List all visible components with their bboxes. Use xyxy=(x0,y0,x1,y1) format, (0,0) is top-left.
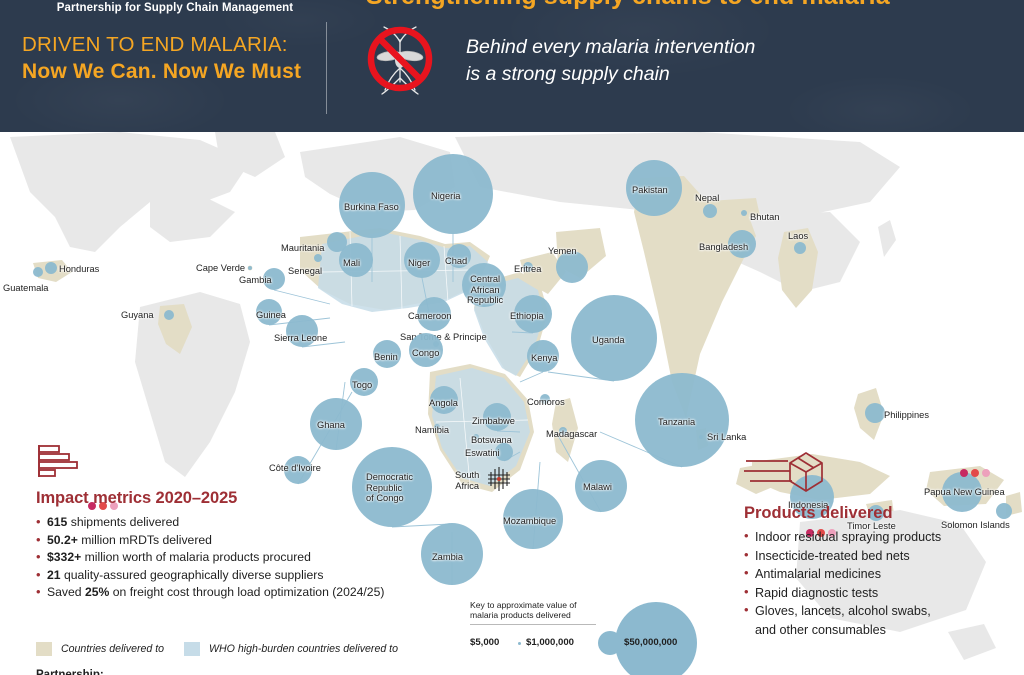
map-legend: Countries delivered toWHO high-burden co… xyxy=(36,642,456,662)
impact-metric-item: Saved 25% on freight cost through load o… xyxy=(36,584,436,602)
map-bubble-senegal[interactable] xyxy=(314,254,322,262)
products-delivered-list: Indoor residual spraying productsInsecti… xyxy=(744,528,1024,640)
map-label-nigeria: Nigeria xyxy=(431,191,460,202)
subhead-line2: is a strong supply chain xyxy=(466,63,670,85)
header-divider xyxy=(326,22,327,114)
map-label-angola: Angola xyxy=(429,398,458,409)
map-bubble-guatemala[interactable] xyxy=(33,267,43,277)
map-label-togo: Togo xyxy=(352,380,372,391)
map-label-congo: Congo xyxy=(412,348,439,359)
subhead-line1: Behind every malaria intervention xyxy=(466,36,755,58)
map-label-mozambique: Mozambique xyxy=(503,516,556,527)
map-label-south-africa: South Africa xyxy=(455,470,479,491)
map-label-nepal: Nepal xyxy=(695,193,719,204)
map-bubble-nepal[interactable] xyxy=(703,204,717,218)
map-bubble-sri-lanka[interactable] xyxy=(699,435,703,439)
size-key-bubble-small xyxy=(518,642,521,645)
partnership-label: Partnership: xyxy=(36,669,104,675)
organization-name: Partnership for Supply Chain Management xyxy=(0,2,350,14)
map-label-laos: Laos xyxy=(788,231,808,242)
impact-metrics-list: 615 shipments delivered50.2+ million mRD… xyxy=(36,514,436,602)
package-icon xyxy=(744,449,824,495)
map-label-central-african-republic: Central African Republic xyxy=(467,274,503,306)
world-bubble-map: GuatemalaHondurasGuyanaCape VerdeMaurita… xyxy=(0,132,1024,675)
tagline-block: DRIVEN TO END MALARIA: Now We Can. Now W… xyxy=(22,32,322,85)
product-item: Insecticide-treated bed nets xyxy=(744,547,1024,566)
legend-swatch xyxy=(184,642,200,656)
map-label-mauritania: Mauritania xyxy=(281,243,324,254)
legend-item: WHO high-burden countries delivered to xyxy=(184,642,398,656)
map-label-benin: Benin xyxy=(374,352,398,363)
map-label-kenya: Kenya xyxy=(531,353,557,364)
map-label-comoros: Comoros xyxy=(527,397,565,408)
map-bubble-laos[interactable] xyxy=(794,242,806,254)
size-key-caption: Key to approximate value of malaria prod… xyxy=(470,600,600,621)
map-label-eritrea: Eritrea xyxy=(514,264,541,275)
legend-label: WHO high-burden countries delivered to xyxy=(209,643,398,655)
map-bubble-bhutan[interactable] xyxy=(741,210,747,216)
product-item: Gloves, lancets, alcohol swabs,and other… xyxy=(744,602,1024,639)
no-mosquito-icon xyxy=(366,20,434,98)
map-label-zimbabwe: Zimbabwe xyxy=(472,416,515,427)
map-label-sri-lanka: Sri Lanka xyxy=(707,432,746,443)
map-label-tanzania: Tanzania xyxy=(658,417,695,428)
map-bubble-guyana[interactable] xyxy=(164,310,174,320)
map-label-guatemala: Guatemala xyxy=(3,283,48,294)
products-delivered-panel: Products delivered Indoor residual spray… xyxy=(744,449,1024,640)
map-label-cape-verde: Cape Verde xyxy=(196,263,245,274)
map-label-niger: Niger xyxy=(408,258,430,269)
size-key-label-5000: $5,000 xyxy=(470,637,499,648)
page-title: Strengthening supply chains to end malar… xyxy=(366,0,1016,11)
legend-label: Countries delivered to xyxy=(61,643,164,655)
size-key-rule xyxy=(470,624,596,625)
map-label-honduras: Honduras xyxy=(59,264,99,275)
impact-metrics-panel: Impact metrics 2020–2025 615 shipments d… xyxy=(36,443,436,602)
product-item: Rapid diagnostic tests xyxy=(744,584,1024,603)
map-label-ethiopia: Ethiopia xyxy=(510,311,544,322)
map-label-chad: Chad xyxy=(445,256,467,267)
map-label-zambia: Zambia xyxy=(432,552,463,563)
size-key-label-1000000: $1,000,000 xyxy=(526,637,574,648)
impact-metric-item: 615 shipments delivered xyxy=(36,514,436,532)
map-label-mali: Mali xyxy=(343,258,360,269)
map-label-bangladesh: Bangladesh xyxy=(699,242,748,253)
legend-swatch xyxy=(36,642,52,656)
map-bubble-honduras[interactable] xyxy=(45,262,57,274)
header-subhead: Behind every malaria intervention is a s… xyxy=(466,34,986,88)
map-label-senegal: Senegal xyxy=(288,266,322,277)
map-label-guinea: Guinea xyxy=(256,310,286,321)
size-key-caption-line1: Key to approximate value of xyxy=(470,600,577,610)
map-label-ghana: Ghana xyxy=(317,420,345,431)
impact-metric-item: 50.2+ million mRDTs delivered xyxy=(36,532,436,550)
impact-metric-item: $332+ million worth of malaria products … xyxy=(36,549,436,567)
product-item: Antimalarial medicines xyxy=(744,565,1024,584)
map-label-malawi: Malawi xyxy=(583,482,612,493)
map-bubble-cape-verde[interactable] xyxy=(248,266,252,270)
impact-metrics-title: Impact metrics 2020–2025 xyxy=(36,489,436,508)
map-label-uganda: Uganda xyxy=(592,335,625,346)
map-label-pakistan: Pakistan xyxy=(632,185,668,196)
map-label-sierra-leone: Sierra Leone xyxy=(274,333,327,344)
tagline-line1: DRIVEN TO END MALARIA: xyxy=(22,32,322,58)
map-label-cameroon: Cameroon xyxy=(408,311,451,322)
map-label-madagascar: Madagascar xyxy=(546,429,597,440)
map-label-bhutan: Bhutan xyxy=(750,212,779,223)
bar-chart-icon xyxy=(36,443,82,479)
size-key-label-50000000: $50,000,000 xyxy=(624,637,677,648)
map-label-guyana: Guyana xyxy=(121,310,154,321)
size-key-caption-line2: malaria products delivered xyxy=(470,610,571,620)
products-delivered-title: Products delivered xyxy=(744,504,1024,523)
map-bubble-philippines[interactable] xyxy=(865,403,885,423)
map-label-namibia: Namibia xyxy=(415,425,449,436)
page-header: Partnership for Supply Chain Management … xyxy=(0,0,1024,132)
south-africa-hatch-marker xyxy=(484,462,518,496)
map-label-eswatini: Eswatini xyxy=(465,448,500,459)
legend-item: Countries delivered to xyxy=(36,642,164,656)
product-item: Indoor residual spraying products xyxy=(744,528,1024,547)
map-label-yemen: Yemen xyxy=(548,246,577,257)
impact-metric-item: 21 quality-assured geographically divers… xyxy=(36,567,436,585)
map-label-gambia: Gambia xyxy=(239,275,272,286)
map-label-burkina-faso: Burkina Faso xyxy=(344,202,399,213)
tagline-line2: Now We Can. Now We Must xyxy=(22,58,322,85)
map-label-philippines: Philippines xyxy=(884,410,929,421)
bubble-size-key: Key to approximate value of malaria prod… xyxy=(470,600,720,675)
